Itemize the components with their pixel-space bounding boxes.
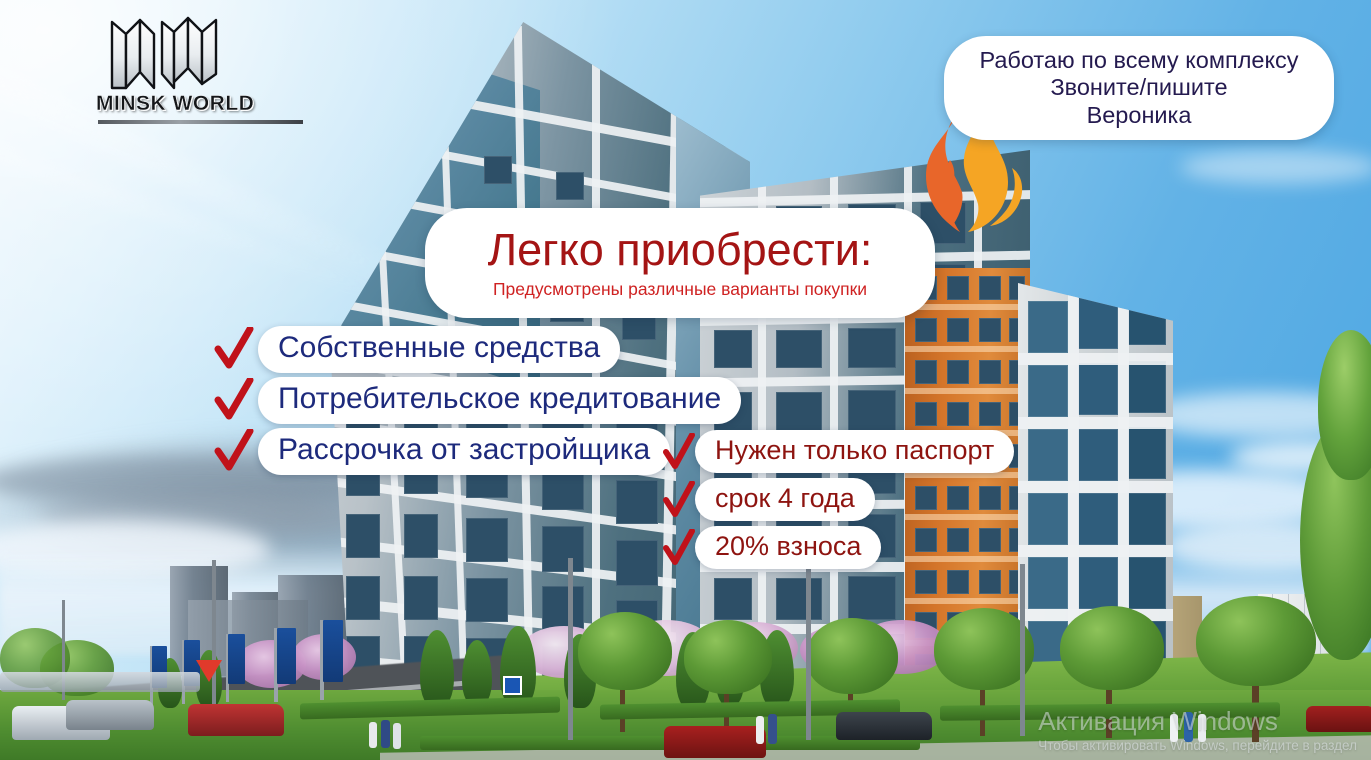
pedestrian-crossing-sign [503, 676, 522, 695]
window [979, 486, 1001, 510]
pedestrian [369, 722, 377, 748]
window [915, 528, 937, 552]
window [404, 576, 438, 620]
payment-option-label: Потребительское кредитование [258, 377, 741, 424]
car [188, 704, 284, 736]
window [1028, 493, 1068, 545]
window [947, 360, 969, 384]
window [484, 156, 512, 184]
installment-term-label: 20% взноса [695, 526, 881, 569]
checkmark-icon [663, 529, 695, 567]
window [466, 578, 508, 622]
tree [1060, 606, 1164, 690]
contact-line-2: Звоните/пишите [979, 74, 1298, 101]
street-lamp [1020, 564, 1025, 736]
window [915, 402, 937, 426]
payment-option-label: Рассрочка от застройщика [258, 428, 670, 475]
mw-monogram-icon [106, 16, 226, 90]
window [947, 570, 969, 594]
window [979, 528, 1001, 552]
window [346, 576, 380, 620]
facade-band [1018, 417, 1173, 429]
facade-band [905, 388, 1030, 394]
window [979, 318, 1001, 342]
contact-line-1: Работаю по всему комплексу [979, 47, 1298, 74]
facade-band [905, 556, 1030, 562]
installment-term-row[interactable]: срок 4 года [663, 478, 875, 521]
payment-option-row[interactable]: Собственные средства [214, 326, 620, 373]
window [1128, 427, 1166, 479]
car [836, 712, 932, 740]
window [1078, 429, 1118, 481]
banner-flag [277, 628, 296, 684]
facade-band [1018, 353, 1173, 365]
pedestrian [1170, 714, 1178, 742]
tree [684, 620, 772, 694]
promo-banner: MINSK WORLD Работаю по всему комплексу З… [0, 0, 1371, 760]
facade-band [905, 346, 1030, 352]
window [346, 514, 380, 558]
contact-line-3: Вероника [979, 102, 1298, 129]
pedestrian [1198, 714, 1206, 742]
banner-flag [323, 620, 343, 682]
window [947, 486, 969, 510]
tree [1196, 596, 1316, 686]
pedestrian [393, 723, 401, 749]
car [1306, 706, 1371, 732]
window [979, 276, 1001, 300]
window [947, 318, 969, 342]
window [915, 360, 937, 384]
logo-wordmark: MINSK WORLD [96, 92, 311, 116]
payment-option-row[interactable]: Потребительское кредитование [214, 377, 741, 424]
facade-band [1018, 481, 1173, 493]
window [915, 318, 937, 342]
window [616, 540, 658, 586]
facade-band [905, 514, 1030, 520]
logo-underline [98, 120, 303, 124]
headline-title: Легко приобрести: [488, 227, 873, 272]
pedestrian [1184, 712, 1193, 742]
checkmark-icon [214, 327, 254, 371]
window [1078, 493, 1118, 545]
window [947, 402, 969, 426]
pedestrian [756, 716, 764, 744]
window [1028, 429, 1068, 481]
tree [578, 612, 672, 690]
window [979, 402, 1001, 426]
window [776, 330, 822, 368]
payment-option-row[interactable]: Рассрочка от застройщика [214, 428, 670, 475]
headline-card: Легко приобрести: Предусмотрены различны… [425, 208, 935, 318]
window [776, 392, 822, 432]
pedestrian [381, 720, 390, 748]
window [542, 526, 584, 572]
installment-term-row[interactable]: 20% взноса [663, 526, 881, 569]
window [556, 172, 584, 200]
window [616, 480, 658, 524]
contact-text: Работаю по всему комплексу Звоните/пишит… [979, 47, 1298, 129]
installment-term-row[interactable]: Нужен только паспорт [663, 430, 1014, 473]
window [1078, 363, 1118, 415]
pedestrian [768, 714, 777, 744]
checkmark-icon [214, 429, 254, 473]
tree [934, 608, 1034, 690]
facade-band [905, 598, 1030, 604]
headline-subtitle: Предусмотрены различные варианты покупки [493, 279, 867, 300]
window [979, 570, 1001, 594]
facade-band [905, 304, 1030, 310]
window [714, 330, 752, 368]
tree [806, 618, 898, 694]
window [1128, 361, 1166, 413]
window [1128, 557, 1166, 609]
window [714, 578, 752, 620]
street-lamp [806, 560, 811, 740]
window [947, 276, 969, 300]
window [915, 570, 937, 594]
window [979, 360, 1001, 384]
window [848, 576, 896, 620]
window [1028, 301, 1068, 353]
car [664, 726, 766, 758]
window [1128, 493, 1166, 545]
checkmark-icon [214, 378, 254, 422]
facade-band [1018, 545, 1173, 557]
window [1028, 557, 1068, 609]
window [404, 514, 438, 558]
window [915, 486, 937, 510]
brand-logo: MINSK WORLD [96, 16, 311, 120]
window [1078, 557, 1118, 609]
window [776, 578, 822, 620]
checkmark-icon [663, 481, 695, 519]
window [947, 528, 969, 552]
window [1028, 365, 1068, 417]
window [848, 390, 896, 432]
car [0, 672, 200, 692]
banner-flag [228, 634, 245, 684]
window [848, 328, 896, 368]
installment-term-label: срок 4 года [695, 478, 875, 521]
installment-term-label: Нужен только паспорт [695, 430, 1014, 473]
contact-callout[interactable]: Работаю по всему комплексу Звоните/пишит… [944, 36, 1334, 140]
street-lamp [568, 558, 573, 740]
checkmark-icon [663, 433, 695, 471]
street-lamp [212, 560, 216, 710]
window [466, 518, 508, 562]
car [66, 700, 154, 730]
payment-option-label: Собственные средства [258, 326, 620, 373]
